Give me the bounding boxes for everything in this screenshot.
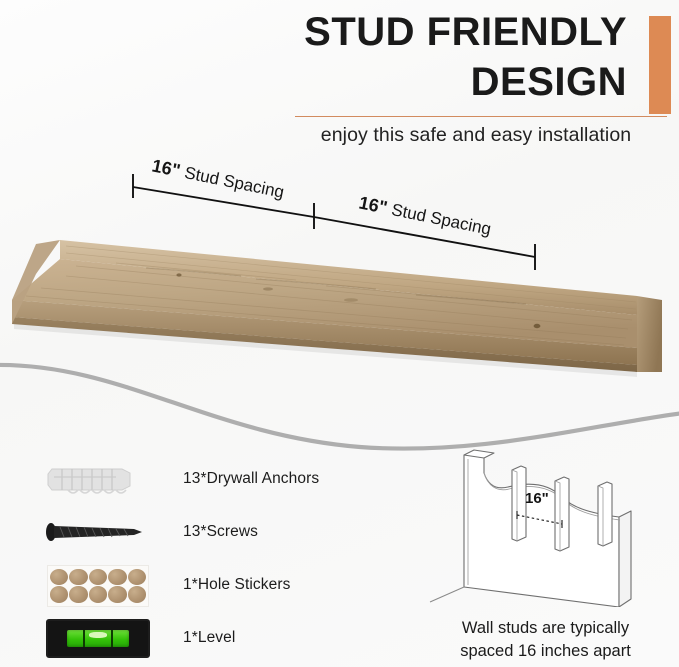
sticker-dot: [69, 586, 87, 603]
sticker-dot: [108, 569, 126, 586]
stud-measure-label: 16": [525, 490, 549, 507]
sticker-dot: [50, 569, 68, 586]
drywall-anchor-icon: [38, 456, 158, 502]
part-label: 13*Screws: [183, 523, 258, 541]
dimension-value-left: 16": [150, 155, 182, 180]
sticker-sheet: [47, 565, 149, 607]
list-item: 13*Drywall Anchors: [38, 452, 368, 505]
level-tool-icon: [38, 615, 158, 661]
list-item: 13*Screws: [38, 505, 368, 558]
sticker-dot: [128, 586, 146, 603]
part-label: 1*Hole Stickers: [183, 576, 290, 594]
part-label: 13*Drywall Anchors: [183, 470, 319, 488]
stud-diagram-caption: Wall studs are typically spaced 16 inche…: [418, 617, 673, 663]
sticker-dot: [89, 569, 107, 586]
screw-icon: [38, 509, 158, 555]
wall-stud-diagram: 16": [412, 437, 674, 607]
page-title-line1: STUD FRIENDLY: [300, 6, 679, 58]
caption-line-1: Wall studs are typically: [418, 617, 673, 640]
level-body: [46, 619, 150, 658]
part-label: 1*Level: [183, 629, 235, 647]
sticker-dot: [69, 569, 87, 586]
sticker-dot: [89, 586, 107, 603]
infographic-canvas: STUD FRIENDLY DESIGN enjoy this safe and…: [0, 0, 679, 667]
sticker-dot: [128, 569, 146, 586]
hole-stickers-icon: [38, 562, 158, 608]
list-item: 1*Hole Stickers: [38, 558, 368, 611]
header-block: STUD FRIENDLY DESIGN: [300, 6, 679, 118]
header-divider-rule: [295, 116, 667, 117]
accent-bar: [649, 16, 671, 114]
level-vial: [67, 630, 129, 647]
sticker-dot: [50, 586, 68, 603]
list-item: 1*Level: [38, 611, 368, 664]
caption-line-2: spaced 16 inches apart: [418, 640, 673, 663]
parts-list: 13*Drywall Anchors 13*Screws: [38, 452, 368, 664]
stud-wall-illustration: 16": [412, 437, 674, 607]
header-subtitle: enjoy this safe and easy installation: [280, 124, 672, 147]
level-bubble: [89, 632, 107, 638]
page-title-line2: DESIGN: [300, 58, 679, 106]
sticker-dot: [108, 586, 126, 603]
